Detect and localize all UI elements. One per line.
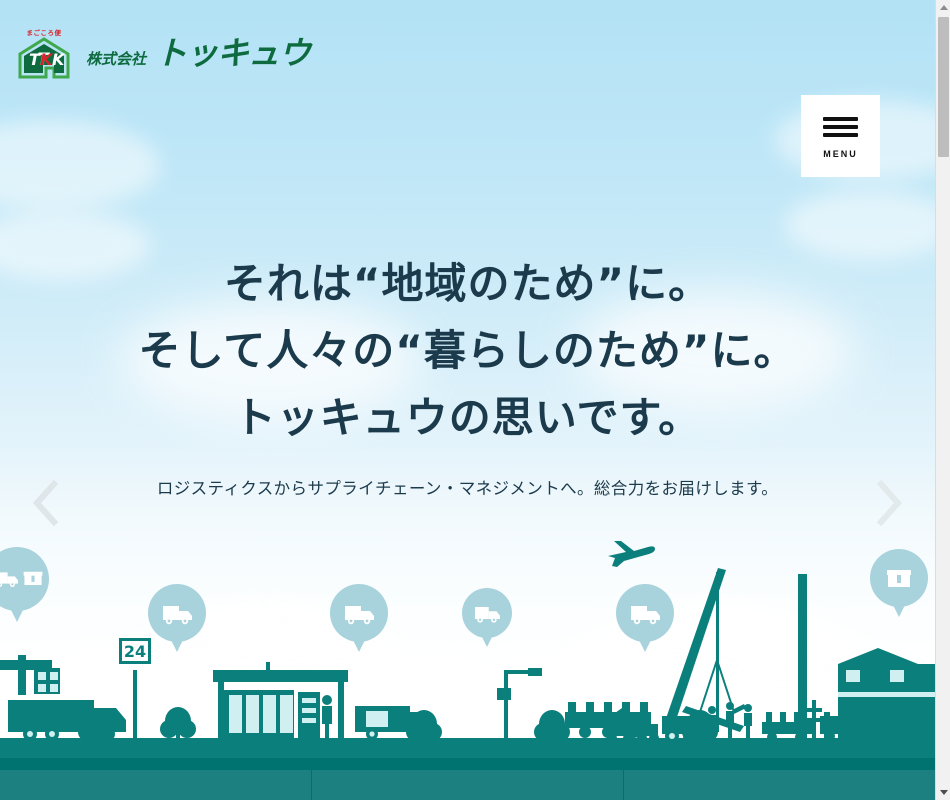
bubble-truck-2 bbox=[330, 584, 388, 652]
scroll-down-arrow-icon bbox=[940, 790, 948, 795]
footer-top-strip bbox=[0, 758, 935, 770]
browser-scrollbar[interactable] bbox=[935, 0, 950, 800]
logo-wordmark: 株式会社 トッキュウ bbox=[86, 37, 310, 69]
hero-section: それは“地域のため”に。 そして人々の“暮らしのため”に。 トッキュウの思いです… bbox=[0, 250, 935, 499]
menu-button-label: MENU bbox=[823, 149, 858, 159]
footer-cell-3[interactable] bbox=[623, 770, 935, 800]
hero-headline-line-2: そして人々の“暮らしのため”に。 bbox=[0, 317, 935, 384]
chevron-right-icon bbox=[874, 480, 904, 526]
menu-button[interactable]: MENU bbox=[801, 95, 880, 177]
scrollbar-up-button[interactable] bbox=[936, 0, 950, 15]
tkk-emblem-icon: まごころ便 T T K K bbox=[16, 27, 72, 79]
footer-bar bbox=[0, 770, 935, 800]
slider-next-button[interactable] bbox=[867, 473, 911, 533]
sign-24-label: 24 bbox=[124, 642, 146, 661]
footer-cell-1[interactable] bbox=[0, 770, 311, 800]
company-name: トッキュウ bbox=[155, 37, 310, 69]
site-logo[interactable]: まごころ便 T T K K 株式会社 トッキュウ bbox=[16, 27, 310, 79]
speech-bubble-group bbox=[0, 547, 928, 652]
svg-text:K: K bbox=[52, 50, 66, 69]
scrollbar-down-button[interactable] bbox=[936, 785, 950, 800]
chevron-left-icon bbox=[31, 480, 61, 526]
slider-prev-button[interactable] bbox=[24, 473, 68, 533]
hamburger-icon bbox=[823, 113, 858, 141]
bubble-package-left bbox=[0, 547, 49, 622]
footer-cell-2[interactable] bbox=[311, 770, 623, 800]
bubble-truck-1 bbox=[148, 584, 206, 652]
company-prefix: 株式会社 bbox=[86, 48, 146, 69]
bubble-truck-3 bbox=[462, 588, 512, 647]
bubble-truck-4 bbox=[616, 584, 674, 652]
bubble-package-right bbox=[870, 549, 928, 617]
hero-headline: それは“地域のため”に。 そして人々の“暮らしのため”に。 トッキュウの思いです… bbox=[0, 250, 935, 451]
scrollbar-thumb[interactable] bbox=[938, 17, 949, 157]
page-viewport: まごころ便 T T K K 株式会社 トッキュウ MENU bbox=[0, 0, 935, 800]
hero-headline-line-1: それは“地域のため”に。 bbox=[0, 250, 935, 317]
airplane-icon bbox=[608, 541, 655, 567]
hero-headline-line-3: トッキュウの思いです。 bbox=[0, 384, 935, 451]
scroll-up-arrow-icon bbox=[940, 5, 948, 10]
hero-subtitle: ロジスティクスからサプライチェーン・マネジメントへ。総合力をお届けします。 bbox=[0, 475, 935, 499]
